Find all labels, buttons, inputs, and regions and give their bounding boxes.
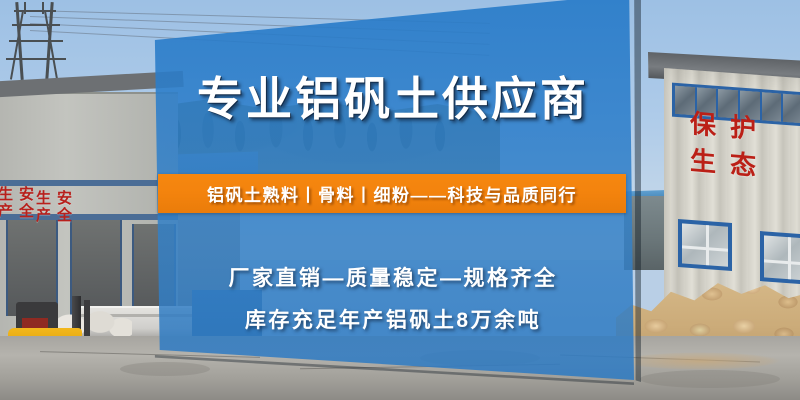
window bbox=[678, 219, 732, 271]
subline-1: 厂家直销—质量稳定—规格齐全 bbox=[152, 262, 634, 292]
ribbon-label: 铝矾土熟料丨骨料丨细粉——科技与品质同行 bbox=[207, 181, 577, 206]
transmission-tower-icon bbox=[4, 2, 70, 80]
banner-image: 安全生产 安全生产 bbox=[0, 0, 800, 400]
left-building-sign: 安全生产 bbox=[0, 186, 36, 230]
window bbox=[760, 231, 800, 285]
page-title: 专业铝矾土供应商 bbox=[152, 76, 634, 122]
left-building-sign-2: 安全生产 bbox=[32, 190, 74, 234]
right-building-sign: 保护生态 bbox=[690, 103, 800, 187]
subline-2: 库存充足年产铝矾土8万余吨 bbox=[152, 304, 634, 334]
banner-text-block: 专业铝矾土供应商 铝矾土熟料丨骨料丨细粉——科技与品质同行 厂家直销—质量稳定—… bbox=[152, 0, 634, 394]
orange-ribbon: 铝矾土熟料丨骨料丨细粉——科技与品质同行 bbox=[158, 174, 626, 213]
